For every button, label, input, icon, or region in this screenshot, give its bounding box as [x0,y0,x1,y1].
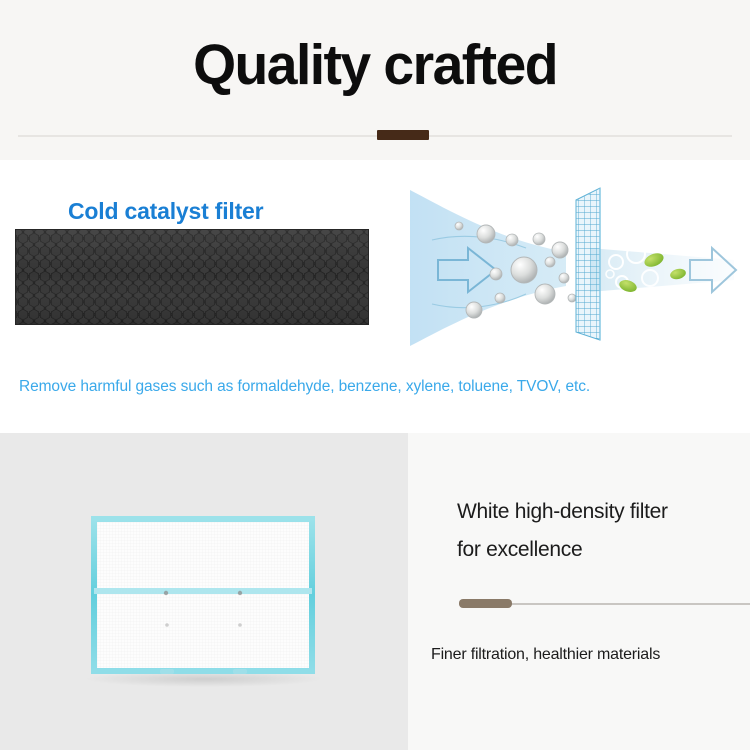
high-density-info-panel: White high-density filter for excellence… [408,433,750,750]
high-density-heading: White high-density filter for excellence [457,493,747,569]
honeycomb-texture-icon [16,230,368,324]
white-high-density-filter-image [52,501,352,701]
page-title: Quality crafted [11,36,739,96]
header-band: Quality crafted [0,0,750,160]
dirty-airflow-cone [410,190,566,346]
filter-photo-panel [0,433,408,750]
header-accent-bar [377,130,429,140]
high-density-accent-bar [459,599,512,608]
carbon-honeycomb-swatch [16,230,368,324]
high-density-subtitle: Finer filtration, healthier materials [431,646,660,664]
high-density-heading-line1: White high-density filter [457,493,747,531]
product-infographic: Quality crafted Cold catalyst filter [0,0,750,750]
high-density-heading-line2: for excellence [457,531,747,569]
cold-catalyst-heading: Cold catalyst filter [68,198,263,225]
cold-catalyst-section: Cold catalyst filter [0,160,750,433]
cold-catalyst-caption: Remove harmful gases such as formaldehyd… [19,378,590,396]
header-divider [18,135,732,137]
airflow-filtration-diagram [404,182,740,352]
filter-screen-mesh [576,188,600,340]
